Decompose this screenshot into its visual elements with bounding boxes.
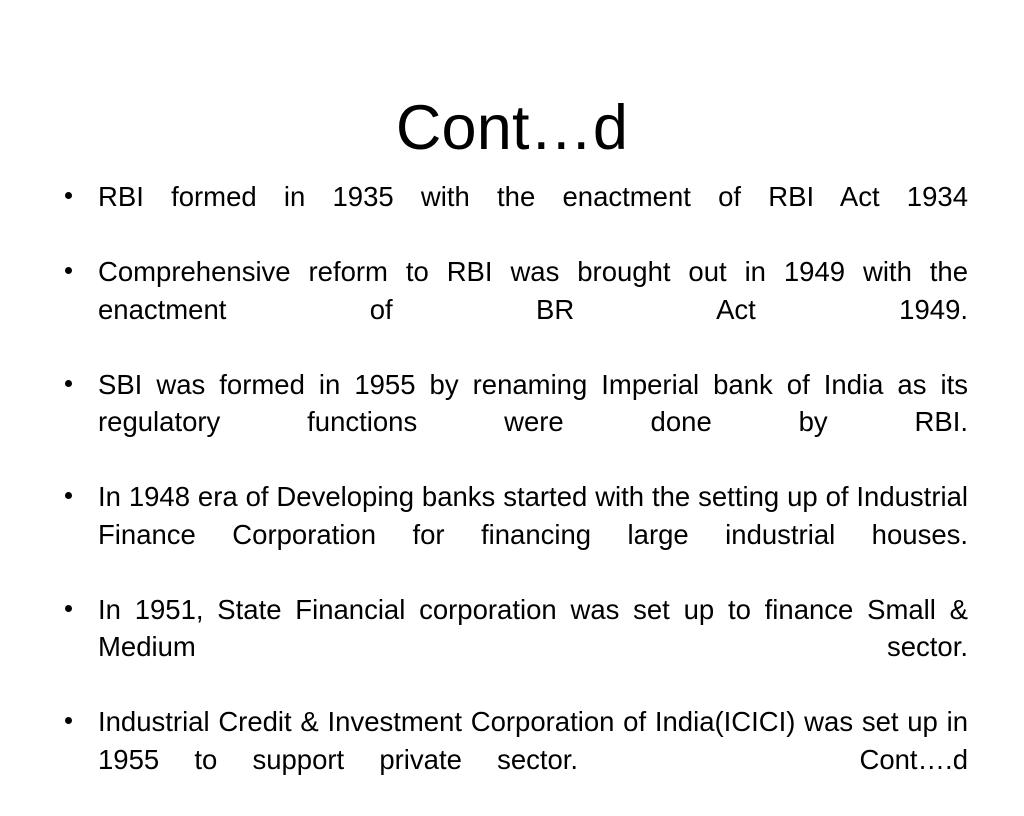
- list-item: SBI was formed in 1955 by renaming Imper…: [58, 366, 968, 479]
- bullet-dot-icon: [65, 267, 72, 274]
- list-item-text: In 1948 era of Developing banks started …: [98, 478, 968, 591]
- list-item: In 1951, State Financial corporation was…: [58, 591, 968, 704]
- list-item-text: Comprehensive reform to RBI was brought …: [98, 253, 968, 366]
- list-item-text: In 1951, State Financial corporation was…: [98, 591, 968, 704]
- list-item-text: SBI was formed in 1955 by renaming Imper…: [98, 366, 968, 479]
- bullet-list: RBI formed in 1935 with the enactment of…: [58, 178, 968, 816]
- continuation-note: Cont….d: [578, 744, 968, 775]
- list-item: In 1948 era of Developing banks started …: [58, 478, 968, 591]
- page-title: Cont…d: [0, 94, 1024, 162]
- bullet-dot-icon: [65, 717, 72, 724]
- list-item: Industrial Credit & Investment Corporati…: [58, 703, 968, 816]
- list-item-text: RBI formed in 1935 with the enactment of…: [98, 178, 968, 253]
- list-item: RBI formed in 1935 with the enactment of…: [58, 178, 968, 253]
- bullet-dot-icon: [65, 492, 72, 499]
- list-item: Comprehensive reform to RBI was brought …: [58, 253, 968, 366]
- bullet-dot-icon: [65, 605, 72, 612]
- list-item-text: Industrial Credit & Investment Corporati…: [98, 703, 968, 816]
- slide-canvas: Cont…d RBI formed in 1935 with the enact…: [0, 0, 1024, 768]
- bullet-dot-icon: [65, 192, 72, 199]
- slide-body: RBI formed in 1935 with the enactment of…: [58, 178, 968, 816]
- bullet-dot-icon: [65, 380, 72, 387]
